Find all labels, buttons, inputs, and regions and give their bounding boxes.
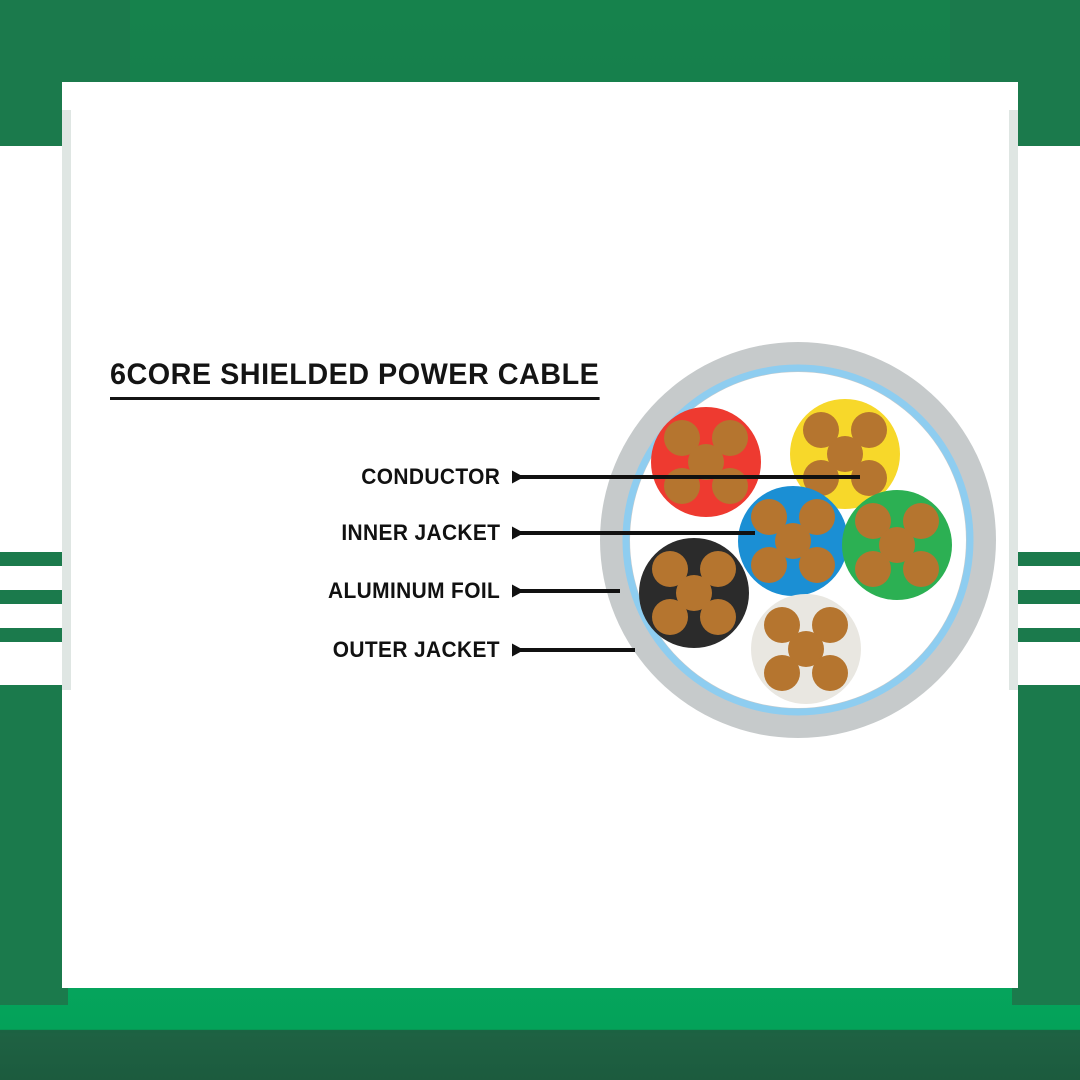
core-red-strand-3: [664, 468, 700, 504]
cable-cross-section: [600, 342, 996, 738]
core-blue-strand-4: [799, 547, 835, 583]
infographic-canvas: 6CORE SHIELDED POWER CABLE CONDUCTORINNE…: [0, 0, 1080, 1080]
core-red-strand-4: [712, 468, 748, 504]
core-blue-strand-3: [751, 547, 787, 583]
cable-diagram-graphics: [0, 0, 1080, 1080]
core-green-strand-4: [903, 551, 939, 587]
core-white-strand-3: [764, 655, 800, 691]
core-green-strand-3: [855, 551, 891, 587]
core-black-strand-3: [652, 599, 688, 635]
core-black-strand-4: [700, 599, 736, 635]
core-white-strand-4: [812, 655, 848, 691]
